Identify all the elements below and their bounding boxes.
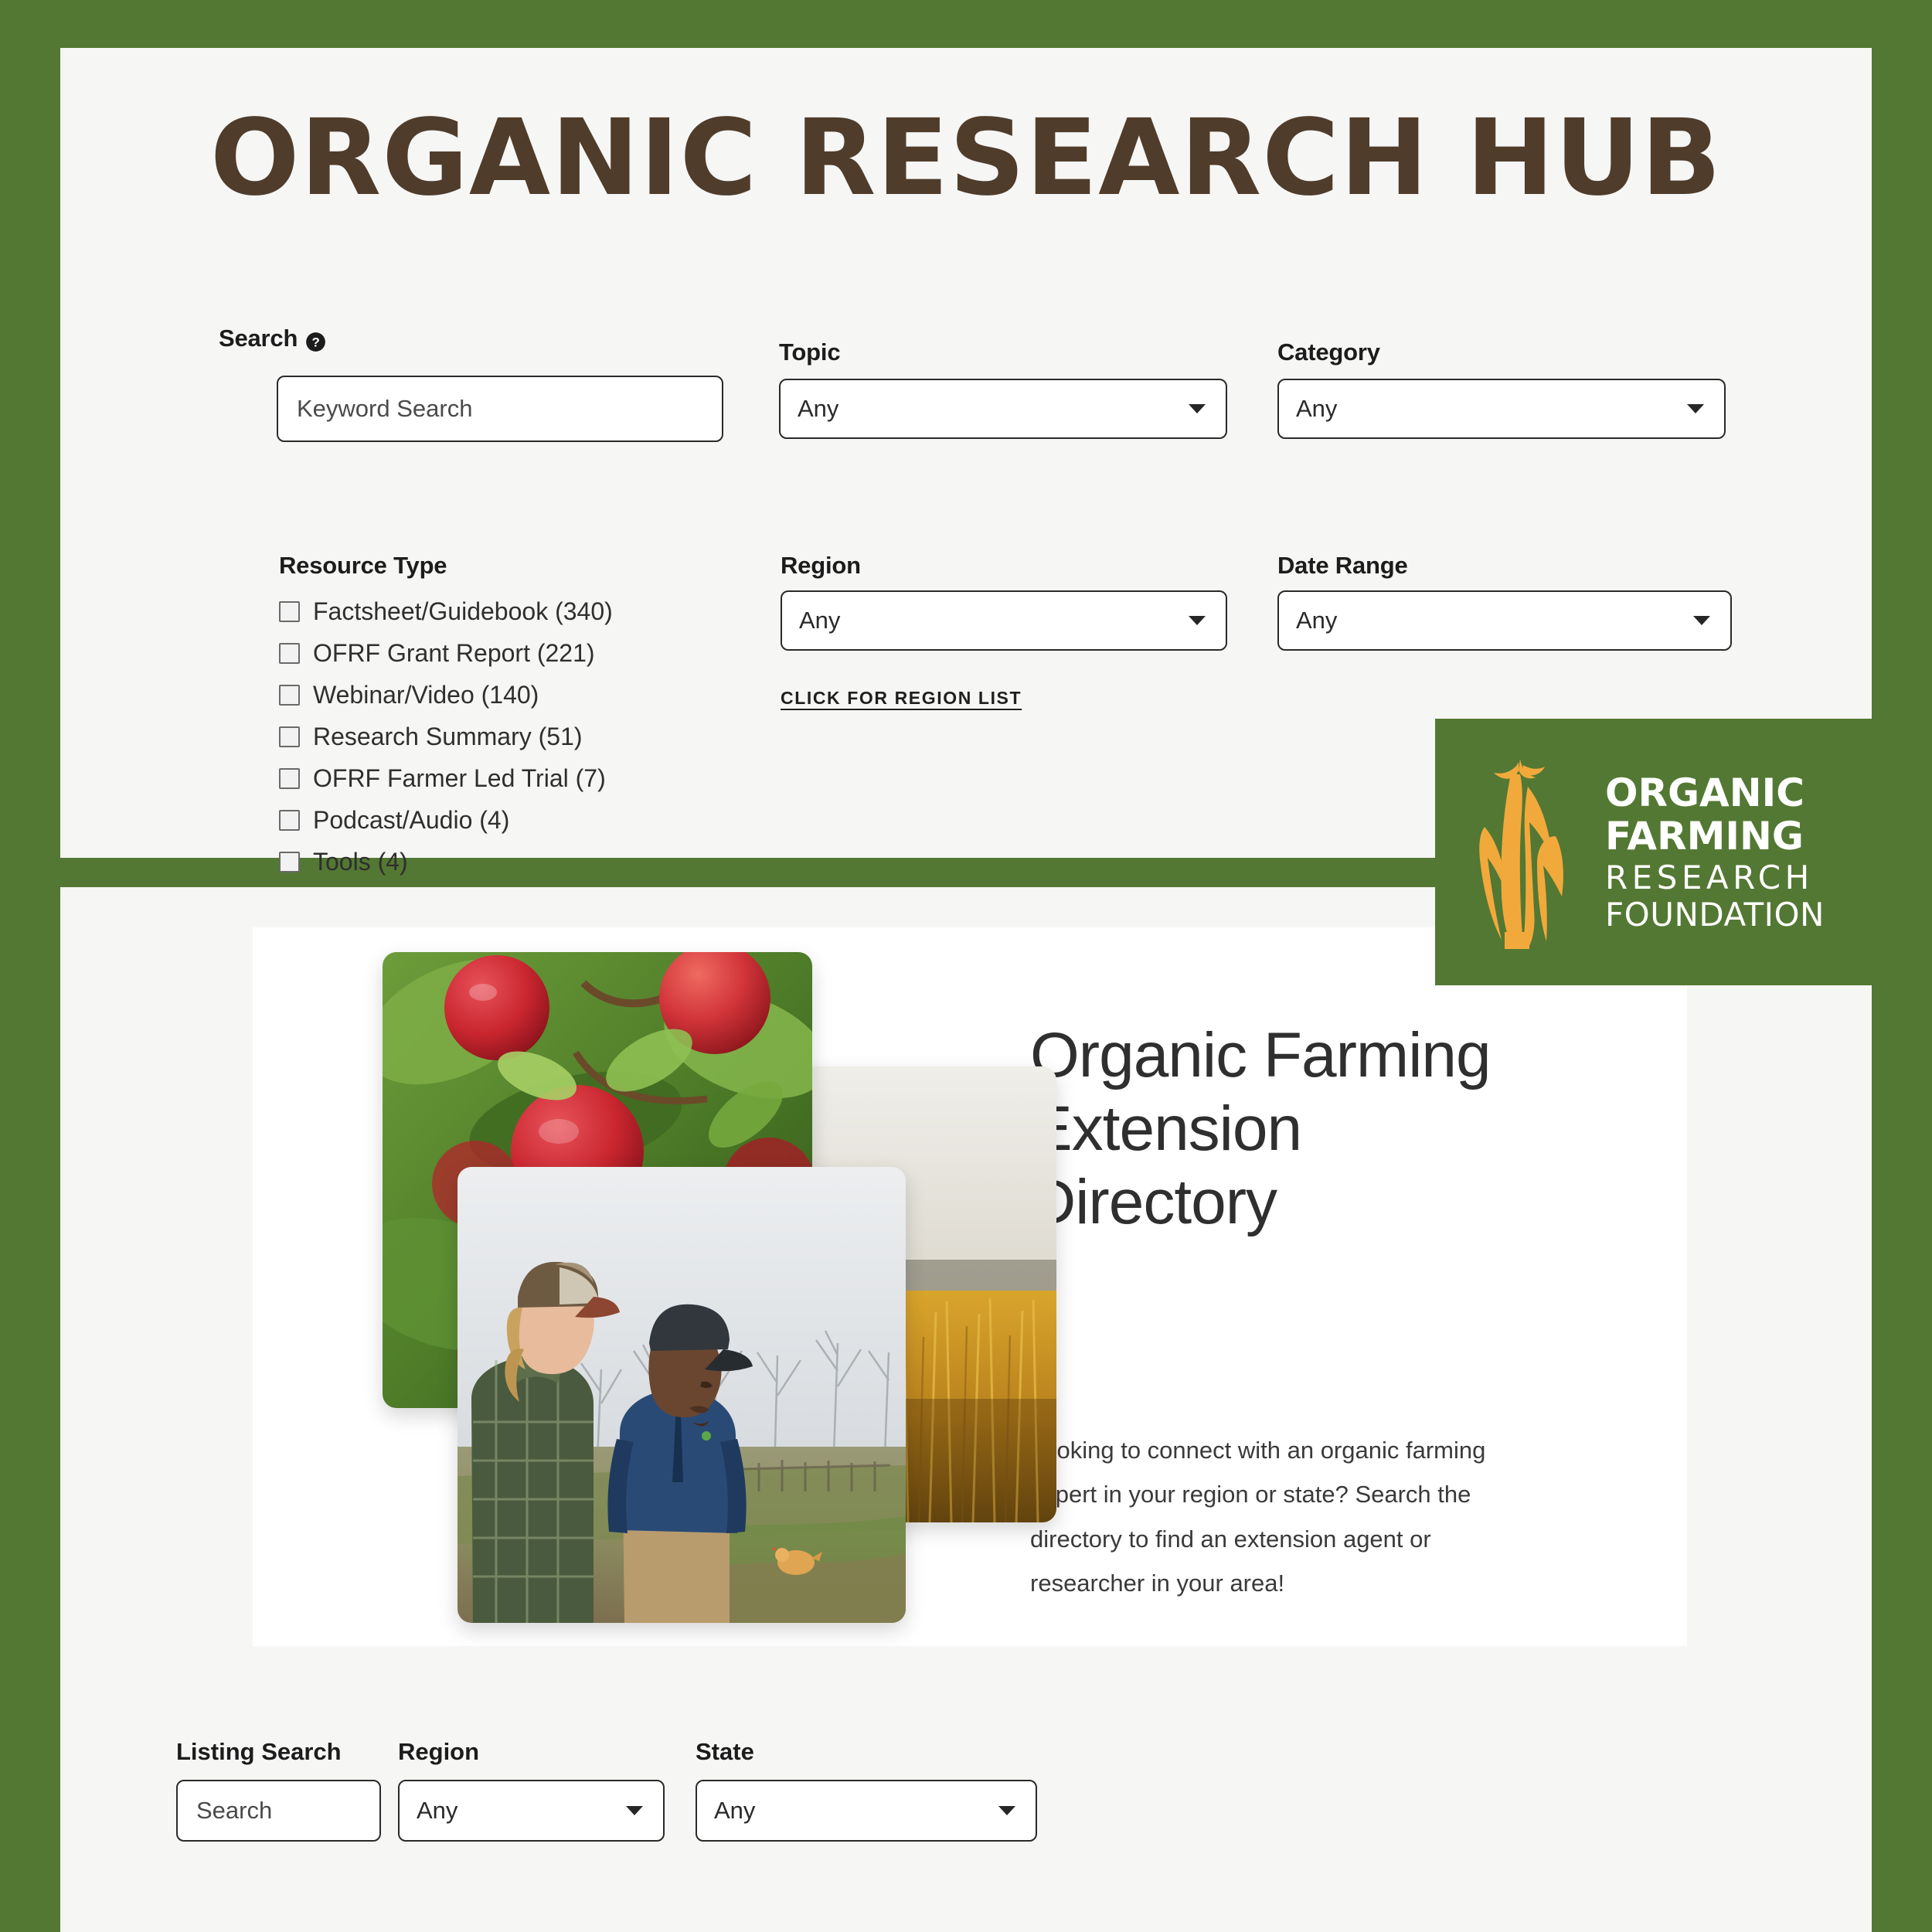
page-root: ORGANIC RESEARCH HUB Search? Topic Any C… bbox=[0, 0, 1932, 1932]
logo-line-research: RESEARCH bbox=[1605, 862, 1825, 894]
directory-hero-card: Organic Farming Extension Directory Look… bbox=[253, 927, 1687, 1646]
resource-type-list: Factsheet/Guidebook (340) OFRF Grant Rep… bbox=[279, 590, 758, 883]
chevron-down-icon bbox=[1189, 616, 1206, 625]
category-label: Category bbox=[1277, 338, 1380, 366]
chevron-down-icon bbox=[626, 1806, 643, 1815]
category-select[interactable]: Any bbox=[1277, 379, 1726, 439]
resource-type-option[interactable]: Webinar/Video (140) bbox=[279, 674, 758, 716]
topic-select[interactable]: Any bbox=[779, 379, 1227, 439]
page-title: ORGANIC RESEARCH HUB bbox=[60, 104, 1872, 214]
checkbox-icon[interactable] bbox=[279, 685, 300, 706]
topic-label: Topic bbox=[779, 338, 840, 366]
help-circle-icon[interactable]: ? bbox=[305, 332, 326, 352]
two-farmers-photo bbox=[457, 1167, 906, 1623]
logo-line-organic: ORGANIC bbox=[1605, 774, 1825, 812]
checkbox-icon[interactable] bbox=[279, 601, 300, 622]
resource-type-option[interactable]: OFRF Farmer Led Trial (7) bbox=[279, 757, 758, 799]
chevron-down-icon bbox=[1687, 404, 1704, 413]
chevron-down-icon bbox=[998, 1806, 1015, 1815]
ofrf-logo: ORGANIC FARMING RESEARCH FOUNDATION bbox=[1435, 719, 1872, 985]
checkbox-icon[interactable] bbox=[279, 726, 300, 747]
resource-type-option[interactable]: Factsheet/Guidebook (340) bbox=[279, 590, 758, 632]
search-input[interactable] bbox=[277, 376, 723, 442]
topic-value: Any bbox=[798, 395, 1189, 423]
directory-region-select[interactable]: Any bbox=[398, 1780, 665, 1842]
checkbox-icon[interactable] bbox=[279, 852, 300, 872]
directory-description: Looking to connect with an organic farmi… bbox=[1030, 1428, 1525, 1605]
region-list-link[interactable]: CLICK FOR REGION LIST bbox=[781, 688, 1022, 709]
checkbox-icon[interactable] bbox=[279, 768, 300, 789]
date-range-value: Any bbox=[1296, 607, 1693, 634]
checkbox-icon[interactable] bbox=[279, 810, 300, 831]
directory-region-value: Any bbox=[417, 1797, 626, 1825]
listing-search-input[interactable] bbox=[176, 1780, 381, 1842]
category-value: Any bbox=[1296, 395, 1687, 423]
listing-search-label: Listing Search bbox=[176, 1738, 342, 1766]
checkbox-icon[interactable] bbox=[279, 643, 300, 664]
search-label: Search? bbox=[219, 325, 326, 352]
directory-state-label: State bbox=[696, 1738, 754, 1766]
svg-text:?: ? bbox=[312, 335, 320, 350]
date-range-label: Date Range bbox=[1277, 552, 1408, 580]
logo-line-farming: FARMING bbox=[1605, 817, 1825, 855]
resource-type-label: Resource Type bbox=[279, 552, 447, 580]
directory-state-value: Any bbox=[714, 1797, 998, 1825]
logo-line-foundation: FOUNDATION bbox=[1605, 899, 1825, 931]
region-value: Any bbox=[799, 607, 1189, 634]
resource-type-option[interactable]: Research Summary (51) bbox=[279, 716, 758, 757]
region-label: Region bbox=[781, 552, 861, 580]
resource-type-option[interactable]: Podcast/Audio (4) bbox=[279, 799, 758, 841]
resource-type-option[interactable]: Tools (4) bbox=[279, 841, 758, 883]
directory-state-select[interactable]: Any bbox=[696, 1780, 1037, 1842]
extension-directory-panel: Organic Farming Extension Directory Look… bbox=[60, 887, 1872, 1932]
directory-heading: Organic Farming Extension Directory bbox=[1030, 1019, 1509, 1239]
corn-stalk-icon bbox=[1468, 756, 1582, 949]
resource-type-option[interactable]: OFRF Grant Report (221) bbox=[279, 632, 758, 674]
chevron-down-icon bbox=[1693, 616, 1710, 625]
region-select[interactable]: Any bbox=[781, 590, 1227, 651]
directory-region-label: Region bbox=[398, 1738, 479, 1766]
date-range-select[interactable]: Any bbox=[1277, 590, 1732, 651]
chevron-down-icon bbox=[1189, 404, 1206, 413]
